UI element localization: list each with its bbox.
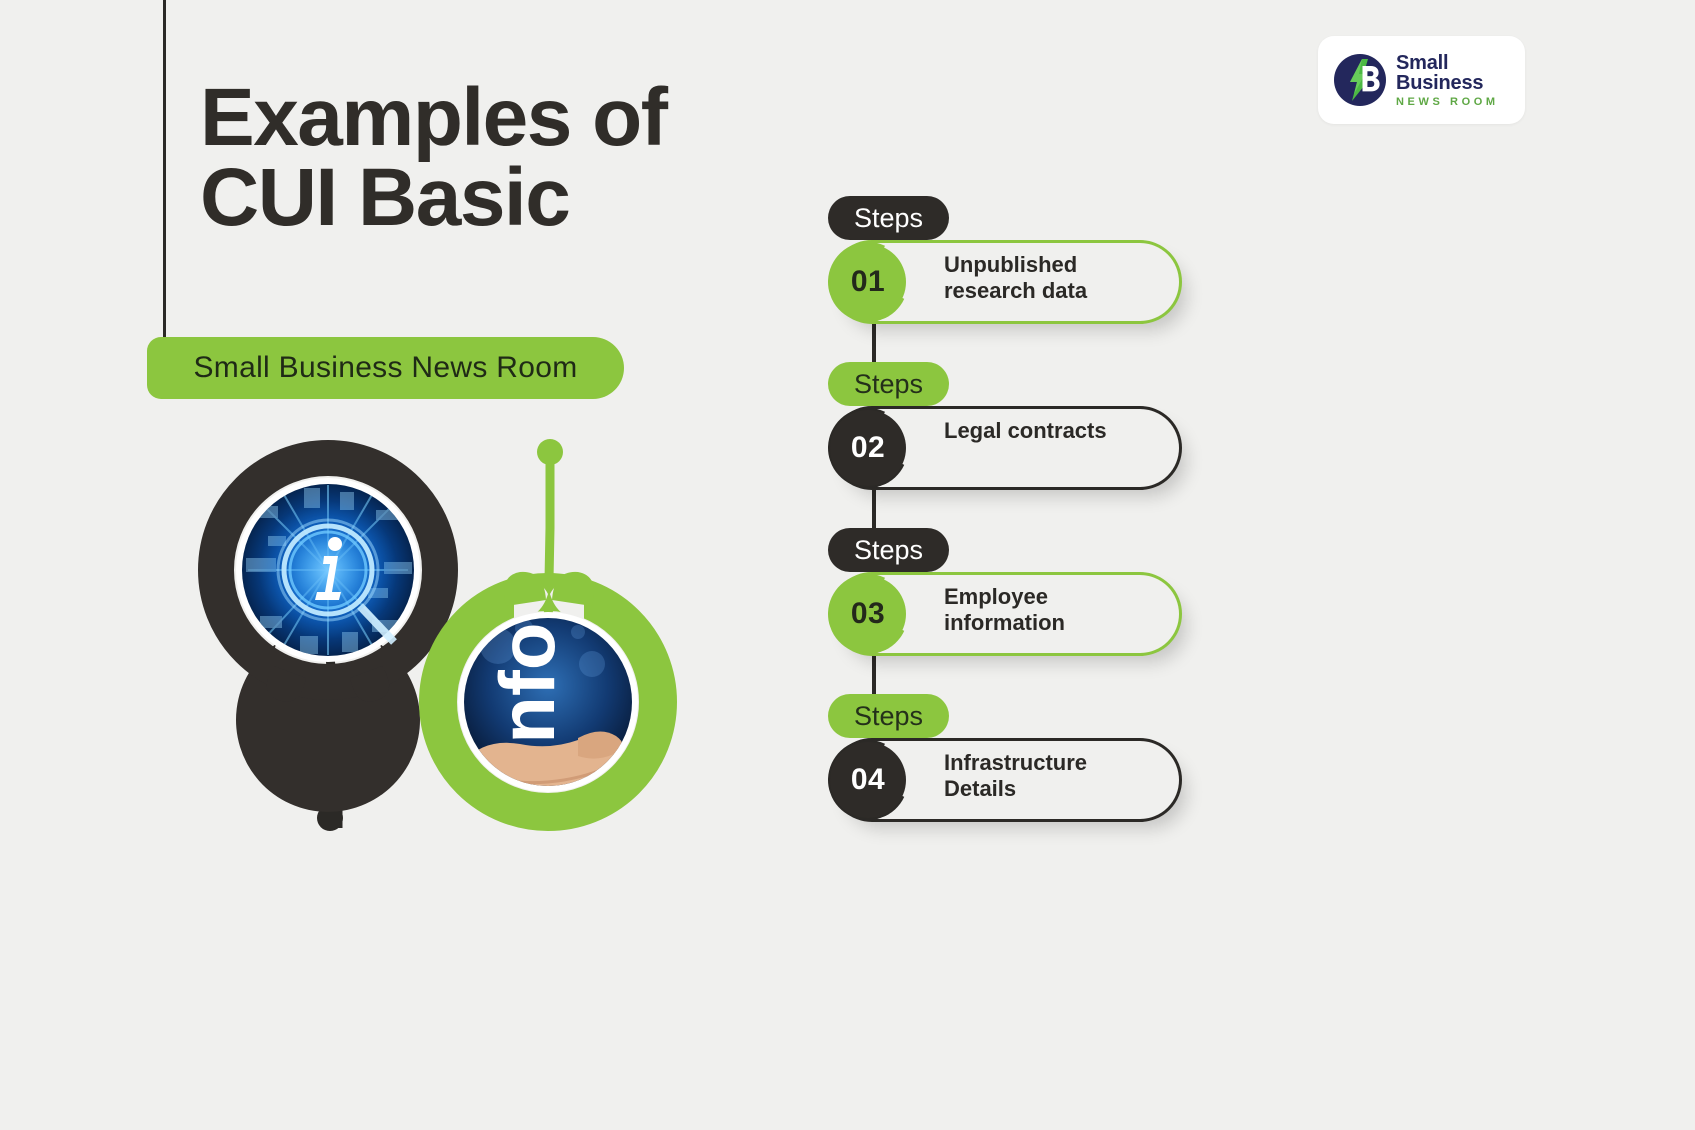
step-number: 01	[830, 244, 906, 320]
page-title: Examples of CUI Basic	[200, 78, 820, 239]
logo-card[interactable]: Small Business NEWS ROOM	[1318, 36, 1525, 124]
step-item[interactable]: 03 Steps Employee information	[828, 528, 1248, 694]
decorative-vertical-rule	[163, 0, 166, 338]
step-label: Infrastructure Details	[944, 750, 1154, 803]
step-item[interactable]: 04 Steps Infrastructure Details	[828, 694, 1248, 860]
small-business-news-room-logo-icon	[1332, 52, 1388, 108]
step-item[interactable]: 01 Steps Unpublished research data	[828, 196, 1248, 362]
logo-wordmark: Small Business NEWS ROOM	[1396, 53, 1525, 108]
step-number: 02	[830, 410, 906, 486]
page-title-line-2: CUI Basic	[200, 158, 820, 238]
illustration-info-in-hand-pin: info	[428, 432, 678, 832]
step-label: Unpublished research data	[944, 252, 1154, 305]
step-tag: Steps	[828, 196, 949, 240]
infographic-canvas: Examples of CUI Basic Small Business New…	[0, 0, 1695, 1130]
step-number: 04	[830, 742, 906, 818]
brand-pill: Small Business News Room	[147, 337, 624, 399]
step-tag: Steps	[828, 694, 949, 738]
step-item[interactable]: 02 Steps Legal contracts	[828, 362, 1248, 528]
step-label: Legal contracts	[944, 418, 1154, 444]
step-number: 03	[830, 576, 906, 652]
steps-list: 01 Steps Unpublished research data 02 St…	[828, 196, 1248, 860]
step-tag: Steps	[828, 362, 949, 406]
logo-name: Small Business	[1396, 53, 1525, 93]
brand-pill-label: Small Business News Room	[194, 351, 578, 385]
page-title-line-1: Examples of	[200, 72, 667, 163]
step-label: Employee information	[944, 584, 1154, 637]
step-tag: Steps	[828, 528, 949, 572]
logo-tagline: NEWS ROOM	[1396, 97, 1525, 108]
